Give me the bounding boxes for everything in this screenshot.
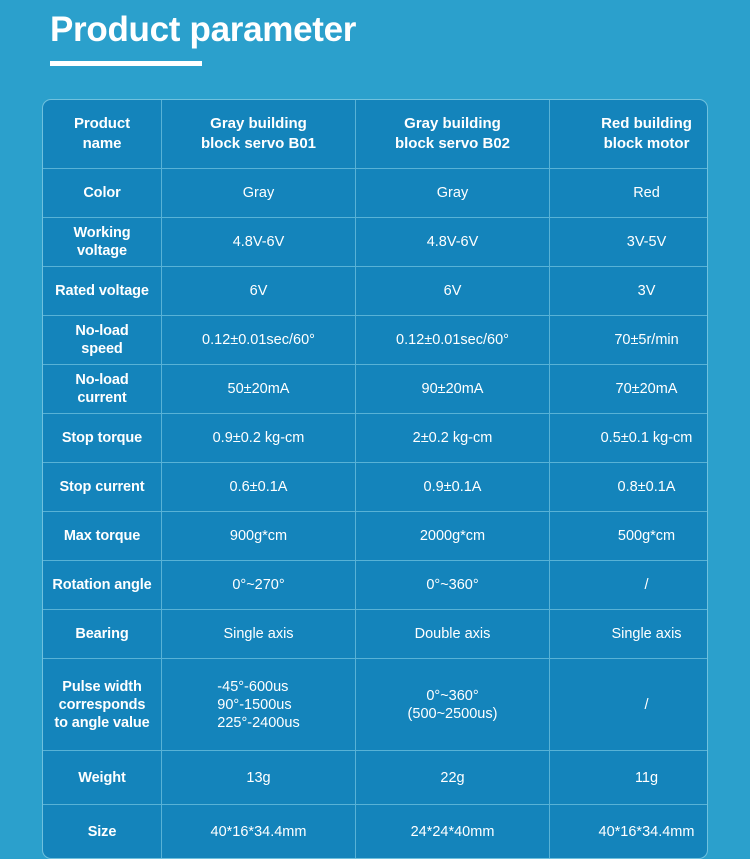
row-value-text: 0.9±0.2 kg-cm <box>213 429 305 447</box>
row-value-text: 90±20mA <box>422 380 484 398</box>
row-value-cell: 3V-5V <box>550 218 709 267</box>
row-value-text: 0.9±0.1A <box>424 478 482 496</box>
table-row: Size40*16*34.4mm24*24*40mm40*16*34.4mm <box>43 805 708 859</box>
row-label-text: Stop current <box>59 478 144 496</box>
table-row: Rotation angle0°~270°0°~360°/ <box>43 561 708 610</box>
row-value-text: / <box>644 576 648 594</box>
row-value-text: Gray <box>243 184 274 202</box>
row-label-text: Size <box>88 823 117 841</box>
row-label-cell: Max torque <box>43 512 162 561</box>
row-value-text: 0.6±0.1A <box>230 478 288 496</box>
row-value-text: 3V <box>638 282 656 300</box>
row-value-cell: 0.9±0.2 kg-cm <box>162 414 356 463</box>
row-value-text: 6V <box>250 282 268 300</box>
row-value-text: 40*16*34.4mm <box>599 823 695 841</box>
header-cell-product-name: Productname <box>43 100 162 169</box>
row-value-cell: 6V <box>356 267 550 316</box>
row-value-text: Red <box>633 184 660 202</box>
row-value-text: 2000g*cm <box>420 527 485 545</box>
header-cell-product-name-text: Productname <box>74 114 130 154</box>
row-value-cell: 0.12±0.01sec/60° <box>162 316 356 365</box>
table-row: Rated voltage6V6V3V <box>43 267 708 316</box>
table-header-row: Productname Gray buildingblock servo B01… <box>43 100 708 169</box>
table-row: Weight13g22g11g <box>43 751 708 805</box>
row-value-cell: 2000g*cm <box>356 512 550 561</box>
title-block: Product parameter <box>50 8 356 66</box>
row-value-text: Double axis <box>415 625 491 643</box>
table-row: Pulse widthcorrespondsto angle value-45°… <box>43 659 708 751</box>
row-value-cell: 40*16*34.4mm <box>550 805 709 859</box>
row-value-text: 900g*cm <box>230 527 287 545</box>
row-value-cell: Gray <box>162 169 356 218</box>
row-label-text: Color <box>83 184 120 202</box>
row-value-text: 0.12±0.01sec/60° <box>202 331 315 349</box>
row-value-text: 2±0.2 kg-cm <box>413 429 493 447</box>
row-value-cell: 900g*cm <box>162 512 356 561</box>
row-value-text: 500g*cm <box>618 527 675 545</box>
row-value-cell: 22g <box>356 751 550 805</box>
row-value-text: 50±20mA <box>228 380 290 398</box>
row-value-text: 70±5r/min <box>614 331 678 349</box>
row-value-text: 3V-5V <box>627 233 667 251</box>
row-label-text: Weight <box>78 769 125 787</box>
table-row: ColorGrayGrayRed <box>43 169 708 218</box>
row-value-cell: 50±20mA <box>162 365 356 414</box>
row-value-cell: Single axis <box>550 610 709 659</box>
row-value-cell: 0.9±0.1A <box>356 463 550 512</box>
row-label-text: No-loadcurrent <box>75 371 128 407</box>
row-value-cell: 4.8V-6V <box>162 218 356 267</box>
row-value-cell: / <box>550 561 709 610</box>
row-value-text: 13g <box>246 769 270 787</box>
header-cell-col-1: Gray buildingblock servo B01 <box>162 100 356 169</box>
row-value-text: 0.5±0.1 kg-cm <box>601 429 693 447</box>
row-value-cell: 0.6±0.1A <box>162 463 356 512</box>
row-value-text: -45°-600us90°-1500us225°-2400us <box>217 678 299 732</box>
row-value-cell: Single axis <box>162 610 356 659</box>
header-cell-col-3: Red buildingblock motor <box>550 100 709 169</box>
table-row: BearingSingle axisDouble axisSingle axis <box>43 610 708 659</box>
row-value-cell: 11g <box>550 751 709 805</box>
row-value-text: 24*24*40mm <box>411 823 495 841</box>
row-value-cell: 3V <box>550 267 709 316</box>
table-row: No-loadspeed0.12±0.01sec/60°0.12±0.01sec… <box>43 316 708 365</box>
row-value-cell: 70±5r/min <box>550 316 709 365</box>
row-value-text: 0.12±0.01sec/60° <box>396 331 509 349</box>
row-value-cell: -45°-600us90°-1500us225°-2400us <box>162 659 356 751</box>
row-label-text: Workingvoltage <box>73 224 130 260</box>
row-label-text: Pulse widthcorrespondsto angle value <box>54 678 149 732</box>
row-value-text: 0.8±0.1A <box>618 478 676 496</box>
table-row: Stop torque0.9±0.2 kg-cm2±0.2 kg-cm0.5±0… <box>43 414 708 463</box>
row-value-cell: 40*16*34.4mm <box>162 805 356 859</box>
spec-table-body: Productname Gray buildingblock servo B01… <box>43 100 708 858</box>
spec-table: Productname Gray buildingblock servo B01… <box>43 100 708 858</box>
row-value-cell: 0.8±0.1A <box>550 463 709 512</box>
row-value-text: 11g <box>635 769 658 787</box>
row-label-cell: Size <box>43 805 162 859</box>
row-label-cell: Pulse widthcorrespondsto angle value <box>43 659 162 751</box>
row-value-text: 0°~360° <box>426 576 478 594</box>
row-value-text: 22g <box>440 769 464 787</box>
row-value-text: 0°~270° <box>232 576 284 594</box>
row-value-text: 4.8V-6V <box>233 233 285 251</box>
header-cell-col-1-text: Gray buildingblock servo B01 <box>201 114 316 154</box>
row-value-cell: / <box>550 659 709 751</box>
row-label-cell: Weight <box>43 751 162 805</box>
table-row: Max torque900g*cm2000g*cm500g*cm <box>43 512 708 561</box>
page-title: Product parameter <box>50 8 356 52</box>
table-row: Workingvoltage4.8V-6V4.8V-6V3V-5V <box>43 218 708 267</box>
row-value-cell: Gray <box>356 169 550 218</box>
row-value-cell: 500g*cm <box>550 512 709 561</box>
row-label-cell: No-loadcurrent <box>43 365 162 414</box>
row-label-text: Rotation angle <box>52 576 151 594</box>
row-label-text: Bearing <box>75 625 128 643</box>
row-label-cell: No-loadspeed <box>43 316 162 365</box>
row-value-text: 0°~360°(500~2500us) <box>408 687 498 723</box>
row-label-cell: Stop current <box>43 463 162 512</box>
header-cell-col-2-text: Gray buildingblock servo B02 <box>395 114 510 154</box>
table-row: Stop current0.6±0.1A0.9±0.1A0.8±0.1A <box>43 463 708 512</box>
table-row: No-loadcurrent50±20mA90±20mA70±20mA <box>43 365 708 414</box>
row-value-text: Single axis <box>223 625 293 643</box>
product-parameter-page: Product parameter Productname Gray build… <box>0 0 750 750</box>
row-label-cell: Stop torque <box>43 414 162 463</box>
row-value-cell: 70±20mA <box>550 365 709 414</box>
row-label-cell: Workingvoltage <box>43 218 162 267</box>
spec-table-container: Productname Gray buildingblock servo B01… <box>42 99 708 859</box>
row-value-text: 6V <box>444 282 462 300</box>
row-value-text: / <box>644 696 648 714</box>
row-label-cell: Rated voltage <box>43 267 162 316</box>
row-label-text: Stop torque <box>62 429 142 447</box>
row-value-text: 70±20mA <box>616 380 678 398</box>
row-label-text: No-loadspeed <box>75 322 128 358</box>
header-cell-col-2: Gray buildingblock servo B02 <box>356 100 550 169</box>
row-value-cell: Red <box>550 169 709 218</box>
row-value-cell: 0°~270° <box>162 561 356 610</box>
row-label-cell: Bearing <box>43 610 162 659</box>
row-value-cell: 13g <box>162 751 356 805</box>
header-cell-col-3-text: Red buildingblock motor <box>601 114 692 154</box>
row-value-cell: 6V <box>162 267 356 316</box>
row-value-cell: 0.5±0.1 kg-cm <box>550 414 709 463</box>
row-label-text: Rated voltage <box>55 282 149 300</box>
row-value-cell: 0.12±0.01sec/60° <box>356 316 550 365</box>
row-value-cell: 4.8V-6V <box>356 218 550 267</box>
row-value-cell: 0°~360°(500~2500us) <box>356 659 550 751</box>
row-value-text: Single axis <box>611 625 681 643</box>
row-value-cell: 0°~360° <box>356 561 550 610</box>
row-value-cell: 90±20mA <box>356 365 550 414</box>
row-label-text: Max torque <box>64 527 140 545</box>
row-value-text: Gray <box>437 184 468 202</box>
row-value-text: 40*16*34.4mm <box>211 823 307 841</box>
row-value-cell: 2±0.2 kg-cm <box>356 414 550 463</box>
title-underline-rule <box>50 61 202 66</box>
row-value-cell: Double axis <box>356 610 550 659</box>
row-label-cell: Rotation angle <box>43 561 162 610</box>
row-value-cell: 24*24*40mm <box>356 805 550 859</box>
row-label-cell: Color <box>43 169 162 218</box>
row-value-text: 4.8V-6V <box>427 233 479 251</box>
